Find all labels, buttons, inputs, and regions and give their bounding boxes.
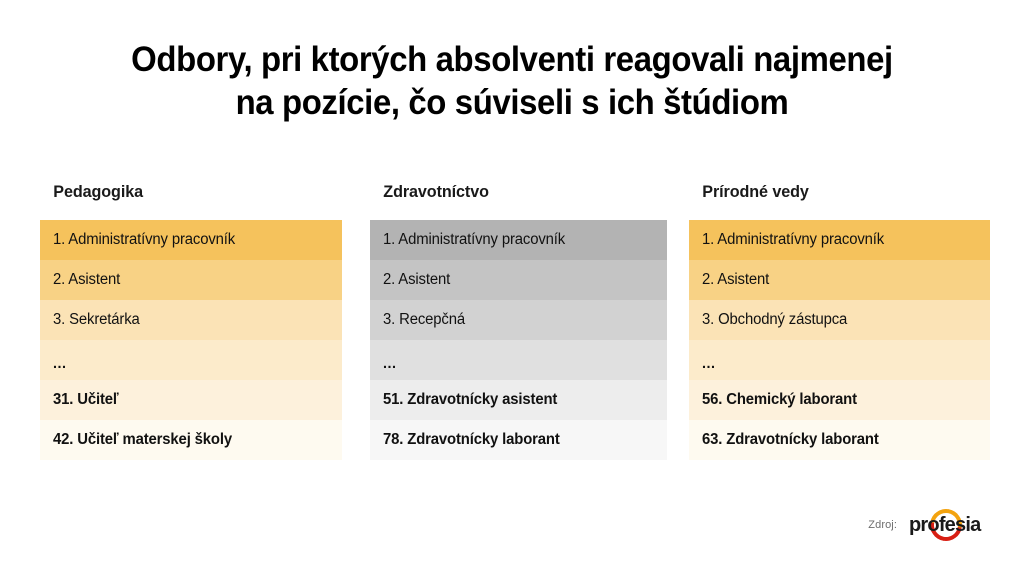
list-item-label: 2. Asistent (702, 271, 769, 289)
list-item: 51. Zdravotnícky asistent (370, 380, 667, 420)
list-item-label: ... (53, 355, 66, 373)
list-item: 31. Učiteľ (40, 380, 342, 420)
list-item: 63. Zdravotnícky laborant (689, 420, 990, 460)
list-item-label: ... (702, 355, 715, 373)
column-header-prirodne-vedy: Prírodné vedy (689, 182, 975, 220)
list-item: 78. Zdravotnícky laborant (370, 420, 667, 460)
column-pedagogika: Pedagogika 1. Administratívny pracovník … (40, 182, 342, 460)
list-item-label: 1. Administratívny pracovník (383, 231, 565, 249)
list-item-label: 42. Učiteľ materskej školy (53, 431, 232, 449)
column-rows-pedagogika: 1. Administratívny pracovník 2. Asistent… (40, 220, 342, 460)
list-item: 3. Obchodný zástupca (689, 300, 990, 340)
list-item: 56. Chemický laborant (689, 380, 990, 420)
list-item-label: 3. Sekretárka (53, 311, 140, 329)
list-item-ellipsis: ... (689, 340, 990, 380)
column-header-pedagogika: Pedagogika (40, 182, 327, 220)
list-item: 2. Asistent (40, 260, 342, 300)
list-item: 3. Sekretárka (40, 300, 342, 340)
logo-wordmark: profesia (904, 515, 980, 535)
page-title: Odbory, pri ktorých absolventi reagovali… (31, 38, 994, 124)
list-item: 1. Administratívny pracovník (370, 220, 667, 260)
list-item-label: ... (383, 355, 396, 373)
column-prirodne-vedy: Prírodné vedy 1. Administratívny pracovn… (689, 182, 990, 460)
list-item: 42. Učiteľ materskej školy (40, 420, 342, 460)
list-item: 1. Administratívny pracovník (689, 220, 990, 260)
list-item-ellipsis: ... (370, 340, 667, 380)
list-item-label: 78. Zdravotnícky laborant (383, 431, 560, 449)
list-item-label: 56. Chemický laborant (702, 391, 857, 409)
list-item-label: 63. Zdravotnícky laborant (702, 431, 879, 449)
column-rows-prirodne-vedy: 1. Administratívny pracovník 2. Asistent… (689, 220, 990, 460)
column-header-zdravotnictvo: Zdravotníctvo (370, 182, 652, 220)
list-item-label: 1. Administratívny pracovník (53, 231, 235, 249)
list-item-label: 1. Administratívny pracovník (702, 231, 884, 249)
source-attribution: Zdroj: profesia (868, 508, 1000, 542)
ranking-columns: Pedagogika 1. Administratívny pracovník … (40, 182, 990, 467)
column-rows-zdravotnictvo: 1. Administratívny pracovník 2. Asistent… (370, 220, 667, 460)
list-item-label: 2. Asistent (53, 271, 120, 289)
list-item-label: 3. Recepčná (383, 311, 465, 329)
page-title-line-2: na pozície, čo súviseli s ich štúdiom (31, 81, 994, 124)
list-item: 1. Administratívny pracovník (40, 220, 342, 260)
list-item: 2. Asistent (370, 260, 667, 300)
list-item: 3. Recepčná (370, 300, 667, 340)
list-item-label: 31. Učiteľ (53, 391, 119, 409)
page-title-line-1: Odbory, pri ktorých absolventi reagovali… (31, 38, 994, 81)
list-item-label: 3. Obchodný zástupca (702, 311, 847, 329)
source-label: Zdroj: (868, 519, 897, 531)
list-item-label: 2. Asistent (383, 271, 450, 289)
list-item-label: 51. Zdravotnícky asistent (383, 391, 557, 409)
column-zdravotnictvo: Zdravotníctvo 1. Administratívny pracovn… (370, 182, 667, 460)
list-item: 2. Asistent (689, 260, 990, 300)
profesia-logo: profesia (904, 508, 1000, 542)
list-item-ellipsis: ... (40, 340, 342, 380)
